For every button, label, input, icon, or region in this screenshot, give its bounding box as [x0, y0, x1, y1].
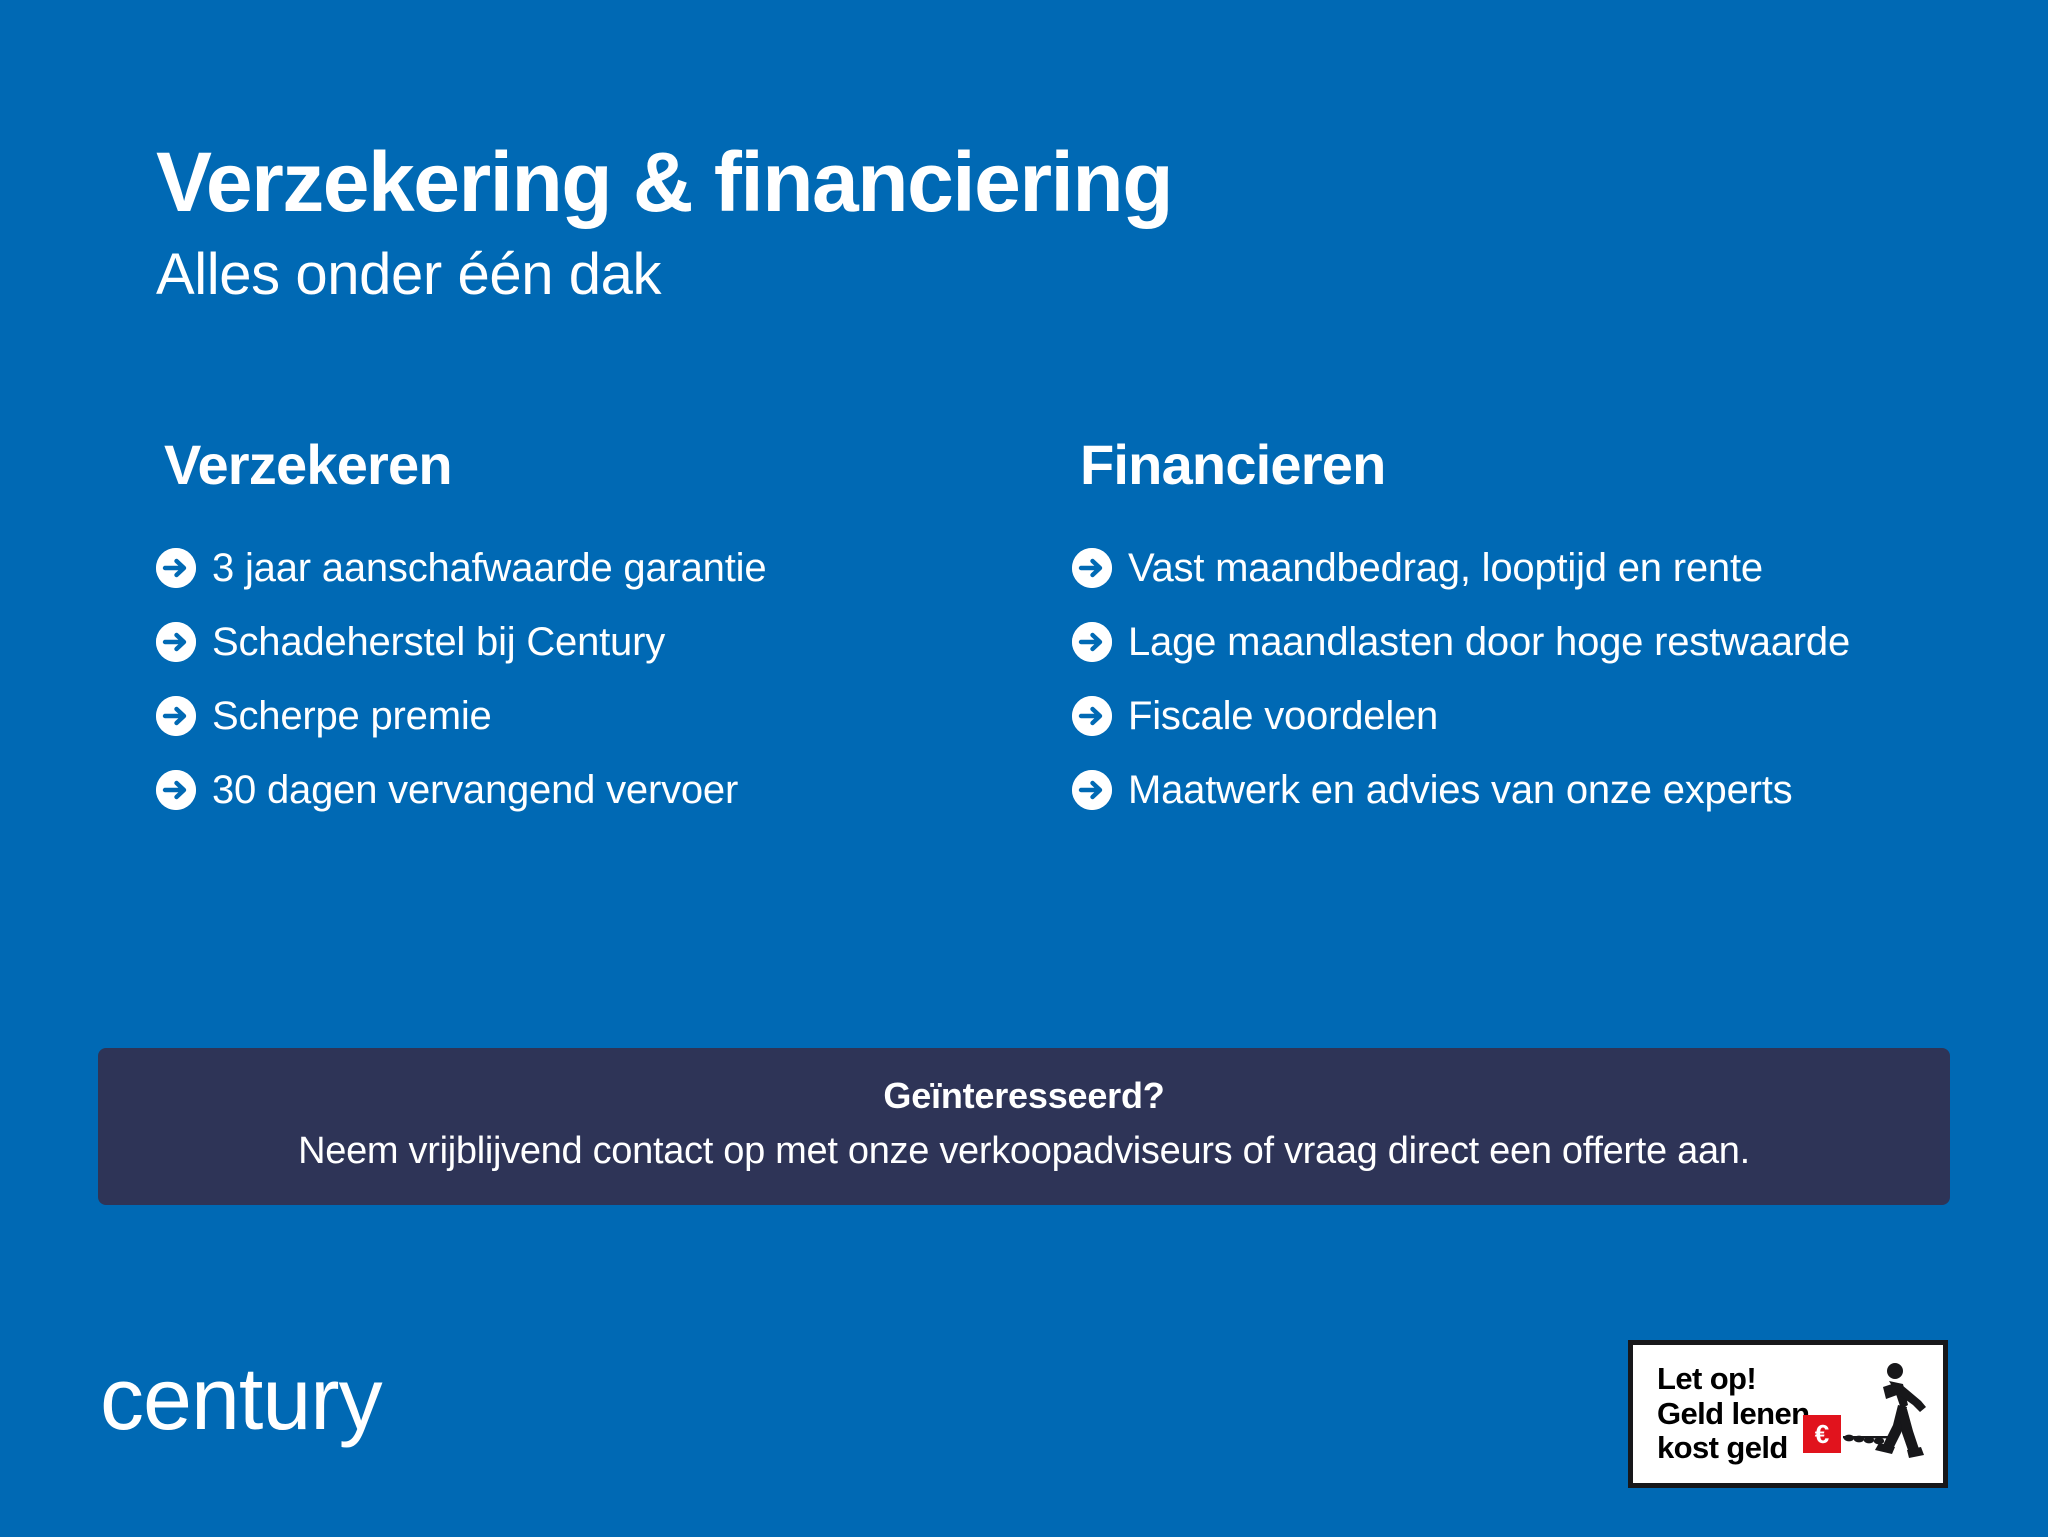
- slide-canvas: Verzekering & financiering Alles onder é…: [0, 0, 2048, 1537]
- arrow-circle-right-icon: [1072, 696, 1112, 736]
- list-item: Maatwerk en advies van onze experts: [1056, 753, 1956, 827]
- loan-warning-text: Let op! Geld lenen kost geld: [1657, 1362, 1809, 1466]
- list-item: 3 jaar aanschafwaarde garantie: [156, 531, 1056, 605]
- list-item-label: Scherpe premie: [212, 694, 492, 739]
- benefit-list-financieren: Vast maandbedrag, looptijd en rente Lage…: [1056, 531, 1956, 827]
- list-item: Lage maandlasten door hoge restwaarde: [1056, 605, 1956, 679]
- list-item-label: Schadeherstel bij Century: [212, 620, 665, 665]
- column-heading-verzekeren: Verzekeren: [156, 437, 1056, 493]
- column-heading-financieren: Financieren: [1056, 437, 1956, 493]
- list-item-label: Fiscale voordelen: [1128, 694, 1438, 739]
- list-item: Schadeherstel bij Century: [156, 605, 1056, 679]
- list-item-label: Vast maandbedrag, looptijd en rente: [1128, 546, 1763, 591]
- list-item: Scherpe premie: [156, 679, 1056, 753]
- loan-warning-line-3: kost geld: [1657, 1431, 1809, 1466]
- loan-warning-line-2: Geld lenen: [1657, 1397, 1809, 1432]
- list-item: Fiscale voordelen: [1056, 679, 1956, 753]
- list-item-label: Maatwerk en advies van onze experts: [1128, 768, 1792, 813]
- arrow-circle-right-icon: [1072, 548, 1112, 588]
- cta-text: Neem vrijblijvend contact op met onze ve…: [138, 1129, 1910, 1175]
- arrow-circle-right-icon: [156, 622, 196, 662]
- list-item: 30 dagen vervangend vervoer: [156, 753, 1056, 827]
- arrow-circle-right-icon: [156, 548, 196, 588]
- column-financieren: Financieren Vast maandbedrag, looptijd e…: [1056, 437, 1956, 827]
- loan-warning-line-1: Let op!: [1657, 1362, 1809, 1397]
- arrow-circle-right-icon: [1072, 622, 1112, 662]
- walking-person-dragging-money-icon: €: [1803, 1357, 1933, 1477]
- century-logo: century: [100, 1355, 382, 1443]
- list-item-label: Lage maandlasten door hoge restwaarde: [1128, 620, 1850, 665]
- list-item: Vast maandbedrag, looptijd en rente: [1056, 531, 1956, 605]
- list-item-label: 30 dagen vervangend vervoer: [212, 768, 738, 813]
- slide-header: Verzekering & financiering Alles onder é…: [156, 140, 1916, 304]
- list-item-label: 3 jaar aanschafwaarde garantie: [212, 546, 766, 591]
- benefit-list-verzekeren: 3 jaar aanschafwaarde garantie Schadeher…: [156, 531, 1056, 827]
- page-subtitle: Alles onder één dak: [156, 246, 1916, 304]
- loan-warning-box: Let op! Geld lenen kost geld €: [1628, 1340, 1948, 1488]
- arrow-circle-right-icon: [156, 770, 196, 810]
- arrow-circle-right-icon: [156, 696, 196, 736]
- cta-title: Geïnteresseerd?: [138, 1074, 1910, 1117]
- page-title: Verzekering & financiering: [156, 140, 1916, 224]
- cta-banner: Geïnteresseerd? Neem vrijblijvend contac…: [98, 1048, 1950, 1205]
- arrow-circle-right-icon: [1072, 770, 1112, 810]
- column-verzekeren: Verzekeren 3 jaar aanschafwaarde garanti…: [156, 437, 1056, 827]
- feature-columns: Verzekeren 3 jaar aanschafwaarde garanti…: [156, 437, 1956, 827]
